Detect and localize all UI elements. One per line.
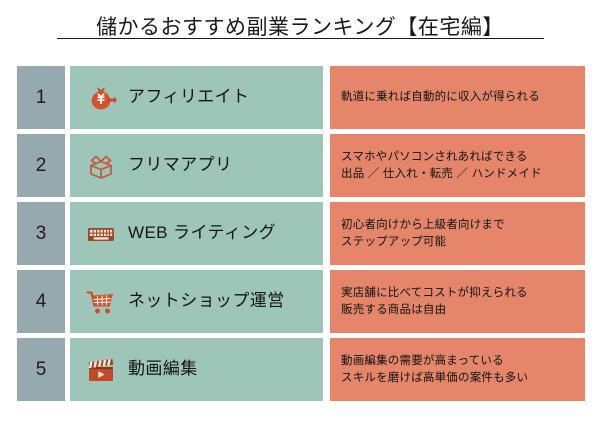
description-line: 販売する商品は自由	[341, 302, 585, 319]
description-line: スマホやパソコンされあればできる	[341, 149, 585, 166]
job-name-cell: フリマアプリ	[70, 134, 323, 197]
rank-cell: 1	[17, 66, 65, 129]
description-line: ステップアップ可能	[341, 234, 585, 251]
clapperboard-icon	[84, 353, 118, 387]
shopping-cart-icon	[84, 285, 118, 319]
description-line: 実店舗に比べてコストが抑えられる	[341, 285, 585, 302]
rank-cell: 2	[17, 134, 65, 197]
description-line: スキルを磨けば高単価の案件も多い	[341, 370, 585, 387]
rank-number: 3	[36, 224, 47, 243]
rank-number: 4	[36, 292, 47, 311]
job-name-label: アフィリエイト	[128, 88, 249, 107]
rank-number: 5	[36, 360, 47, 379]
description-cell: スマホやパソコンされあればできる 出品 ／ 仕入れ・転売 ／ ハンドメイド	[330, 134, 585, 197]
job-name-cell: アフィリエイト	[70, 66, 323, 129]
open-box-icon	[84, 149, 118, 183]
description-line: 初心者向けから上級者向けまで	[341, 217, 585, 234]
rank-number: 1	[36, 88, 47, 107]
title-underline-divider	[57, 38, 544, 39]
ranking-list: 1 アフィリエイト 軌道に乗れば自動的に収入が得ら	[0, 66, 600, 401]
rank-cell: 4	[17, 270, 65, 333]
description-cell: 初心者向けから上級者向けまで ステップアップ可能	[330, 202, 585, 265]
job-name-label: WEB ライティング	[128, 224, 276, 243]
list-item: 1 アフィリエイト 軌道に乗れば自動的に収入が得ら	[0, 66, 600, 129]
description-line: 軌道に乗れば自動的に収入が得られる	[341, 89, 585, 106]
list-item: 3	[0, 202, 600, 265]
description-cell: 実店舗に比べてコストが抑えられる 販売する商品は自由	[330, 270, 585, 333]
rank-cell: 3	[17, 202, 65, 265]
job-name-cell: WEB ライティング	[70, 202, 323, 265]
money-bag-yen-icon	[84, 81, 118, 115]
description-cell: 動画編集の需要が高まっている スキルを磨けば高単価の案件も多い	[330, 338, 585, 401]
job-name-label: 動画編集	[128, 360, 198, 379]
rank-cell: 5	[17, 338, 65, 401]
list-item: 5	[0, 338, 600, 401]
description-cell: 軌道に乗れば自動的に収入が得られる	[330, 66, 585, 129]
rank-number: 2	[36, 156, 47, 175]
list-item: 4	[0, 270, 600, 333]
description-line: 出品 ／ 仕入れ・転売 ／ ハンドメイド	[341, 166, 585, 183]
keyboard-icon	[84, 217, 118, 251]
job-name-cell: 動画編集	[70, 338, 323, 401]
description-line: 動画編集の需要が高まっている	[341, 353, 585, 370]
job-name-label: フリマアプリ	[128, 156, 232, 175]
ranking-infographic: 儲かるおすすめ副業ランキング【在宅編】 1	[0, 0, 600, 423]
job-name-label: ネットショップ運営	[128, 292, 285, 311]
list-item: 2 フリマアプリ スマホやパソ	[0, 134, 600, 197]
job-name-cell: ネットショップ運営	[70, 270, 323, 333]
